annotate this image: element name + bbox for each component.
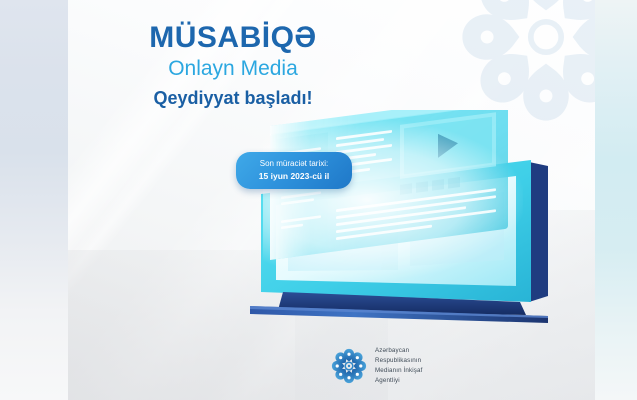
promo-poster: MÜSABİQƏ Onlayn Media Qeydiyyat başladı!…	[0, 0, 637, 400]
deadline-label: Son müraciət tarixi:	[240, 158, 348, 170]
title-main: MÜSABİQƏ	[68, 22, 398, 54]
title-subtitle: Onlayn Media	[68, 54, 398, 84]
laptop-illustration	[248, 110, 578, 330]
snowflake-rosette-icon	[330, 347, 368, 385]
agency-name-line: Agentliyi	[375, 376, 422, 386]
deadline-date: 15 iyun 2023-cü il	[240, 170, 348, 182]
agency-name-line: Azərbaycan	[375, 346, 422, 356]
agency-name-line: Respublikasının	[375, 356, 422, 366]
title-callout: Qeydiyyat başladı!	[68, 84, 398, 113]
right-gradient-band	[595, 0, 637, 400]
left-gradient-band	[0, 0, 68, 400]
agency-logo-lockup: Azərbaycan Respublikasının Medianın İnki…	[330, 346, 422, 386]
deadline-badge: Son müraciət tarixi: 15 iyun 2023-cü il	[236, 152, 352, 189]
poster-stage: MÜSABİQƏ Onlayn Media Qeydiyyat başladı!…	[68, 0, 595, 400]
agency-name: Azərbaycan Respublikasının Medianın İnki…	[375, 346, 422, 386]
agency-name-line: Medianın İnkişaf	[375, 366, 422, 376]
headline-block: MÜSABİQƏ Onlayn Media Qeydiyyat başladı!	[68, 22, 398, 113]
